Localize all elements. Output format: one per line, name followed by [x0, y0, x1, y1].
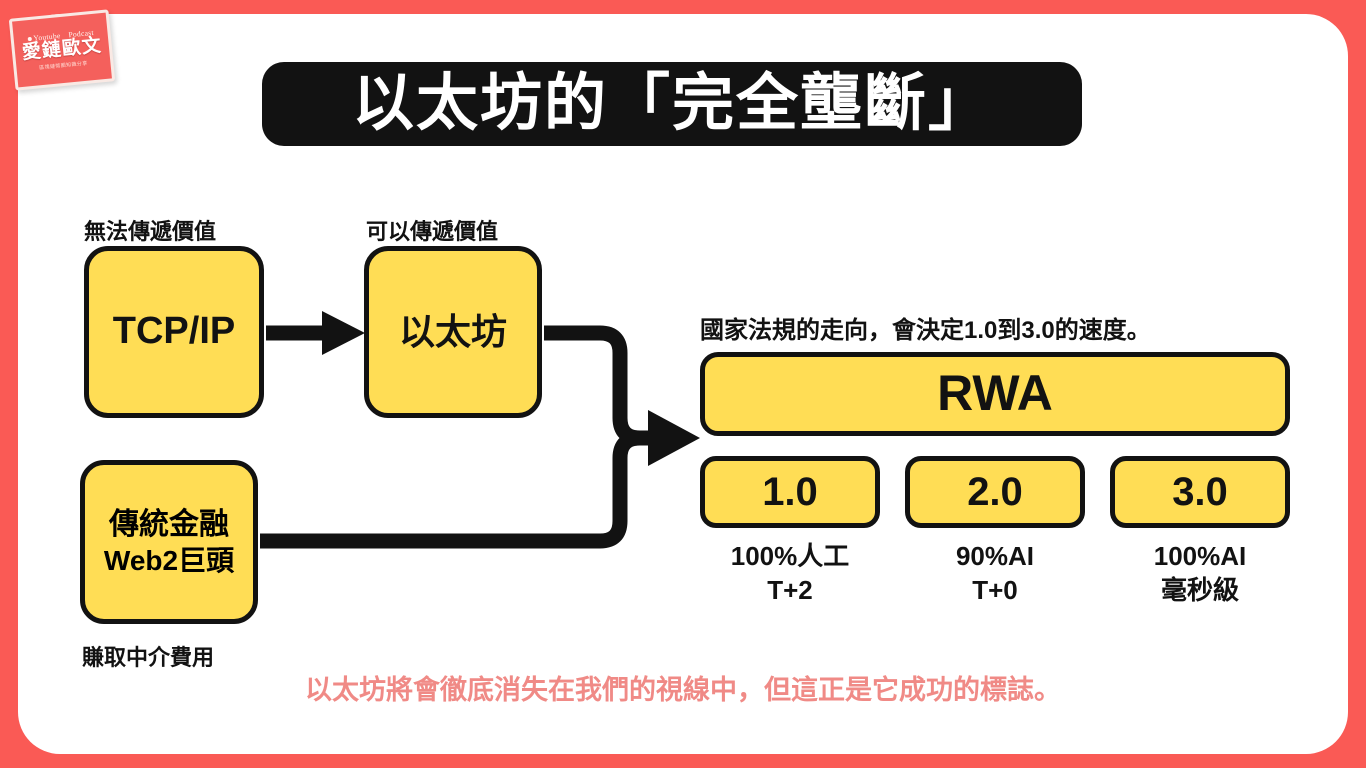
node-rwa-v2[interactable]: 2.0 — [905, 456, 1085, 528]
node-tcpip[interactable]: TCP/IP — [84, 246, 264, 418]
node-rwa-v1-label: 1.0 — [762, 469, 818, 515]
node-rwa[interactable]: RWA — [700, 352, 1290, 436]
slide-stage: Youtube Podcast 愛鏈歐文 區塊鏈幣圈知識分享 以太坊的「完全壟斷… — [0, 0, 1366, 768]
node-rwa-v1[interactable]: 1.0 — [700, 456, 880, 528]
play-dot-icon — [27, 37, 31, 41]
caption-can-value: 可以傳遞價值 — [366, 214, 498, 246]
node-ethereum-label: 以太坊 — [399, 311, 507, 352]
node-tcpip-label: TCP/IP — [113, 310, 235, 354]
node-rwa-v2-label: 2.0 — [967, 469, 1023, 515]
node-ethereum[interactable]: 以太坊 — [364, 246, 542, 418]
channel-logo[interactable]: Youtube Podcast 愛鏈歐文 區塊鏈幣圈知識分享 — [9, 9, 115, 90]
caption-no-value: 無法傳遞價值 — [84, 214, 216, 246]
node-rwa-v3-label: 3.0 — [1172, 469, 1228, 515]
caption-intermediary-fee: 賺取中介費用 — [82, 640, 214, 672]
node-tradfi-line1: 傳統金融 — [109, 506, 229, 544]
node-tradfi-line2: Web2巨頭 — [104, 543, 234, 578]
node-traditional-finance[interactable]: 傳統金融 Web2巨頭 — [80, 460, 258, 624]
node-rwa-v3[interactable]: 3.0 — [1110, 456, 1290, 528]
node-rwa-label: RWA — [937, 365, 1053, 423]
